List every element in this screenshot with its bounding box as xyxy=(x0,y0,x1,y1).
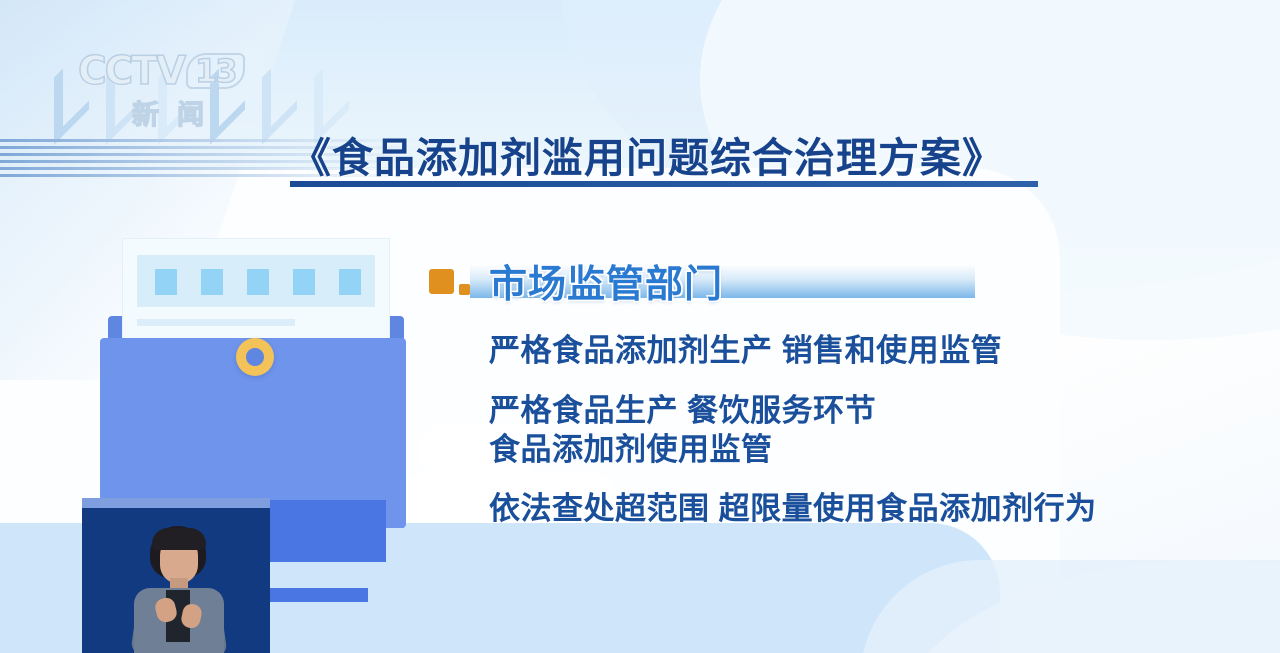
page-title: 《食品添加剂滥用问题综合治理方案》 xyxy=(290,124,1050,184)
cctv13-logo: CCTV13 新闻 xyxy=(78,52,268,126)
document-square-icon xyxy=(201,269,223,295)
body-line-1: 严格食品添加剂生产 销售和使用监管 xyxy=(489,325,1002,370)
body-line-3: 食品添加剂使用监管 xyxy=(489,424,773,469)
document-square-icon xyxy=(155,269,177,295)
cctv-text: CCTV xyxy=(78,49,184,94)
document-square-icon xyxy=(339,269,361,295)
folder-document-sheet xyxy=(122,238,390,350)
channel-number: 13 xyxy=(186,53,245,89)
title-underline xyxy=(290,181,1038,187)
document-square-icon xyxy=(293,269,315,295)
document-folder-illustration xyxy=(100,238,412,528)
broadcast-graphic-stage: CCTV13 新闻 《食品添加剂滥用问题综合治理方案》 市场监管 xyxy=(0,0,1280,653)
bullet-square-large-icon xyxy=(429,269,454,294)
document-header-strip xyxy=(137,255,375,307)
body-line-4: 依法查处超范围 超限量使用食品添加剂行为 xyxy=(489,483,1097,528)
document-text-line xyxy=(137,319,295,326)
interpreter-hair-front xyxy=(152,528,206,550)
sign-language-interpreter-inset xyxy=(82,508,270,653)
folder-clasp-icon xyxy=(236,338,274,376)
inset-top-tab xyxy=(82,498,270,508)
document-square-icon xyxy=(247,269,269,295)
cctv-wordmark: CCTV13 xyxy=(78,52,268,91)
section-heading: 市场监管部门 xyxy=(489,253,723,308)
channel-name-cn: 新闻 xyxy=(78,93,268,132)
folder-clasp-center xyxy=(246,348,264,366)
bullet-square-small-icon xyxy=(459,284,470,295)
